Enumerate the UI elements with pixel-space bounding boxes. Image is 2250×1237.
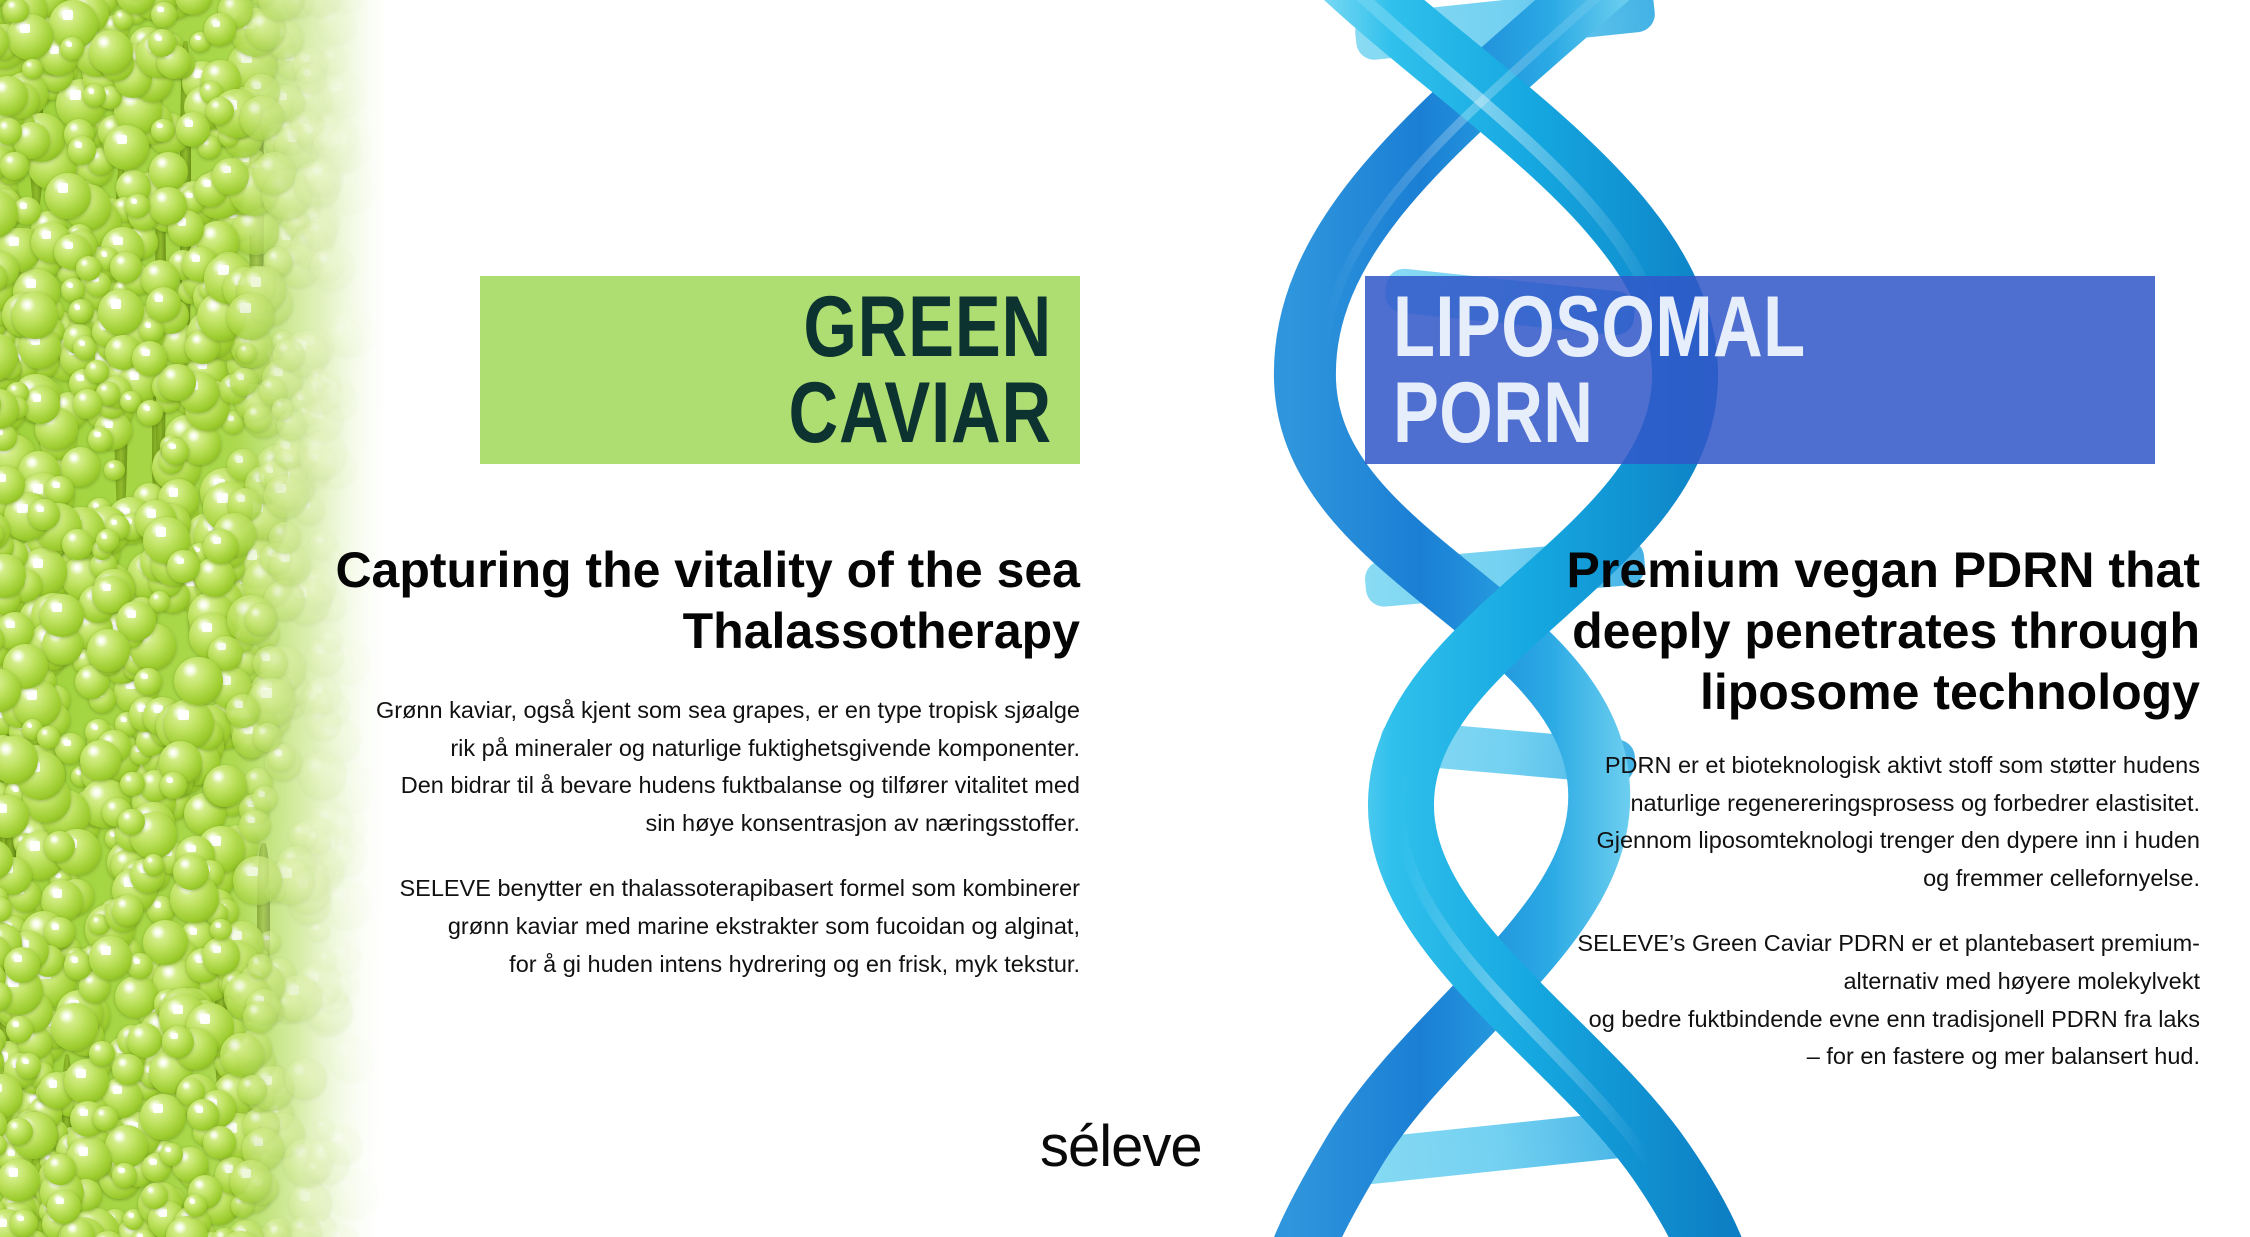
caviar-bead [184,1194,207,1217]
caviar-bead [0,1091,12,1116]
caviar-bead [96,648,123,675]
caviar-bead [0,422,20,460]
caviar-bead [131,716,155,740]
caviar-bead [137,400,163,426]
caviar-bead [22,719,43,740]
caviar-bead [26,344,60,378]
caviar-bead [0,29,34,69]
caviar-bead [188,1175,222,1209]
caviar-bead [36,536,81,581]
caviar-bead [130,858,165,893]
caviar-bead [0,108,36,148]
caviar-stem [215,952,227,1096]
right-p2-line-2: alternativ med høyere molekylvekt [1420,963,2200,1001]
caviar-bead [188,543,211,566]
left-paragraph-2: SELEVE benytter en thalassoterapibasert … [300,870,1080,983]
caviar-bead [0,389,19,429]
caviar-bead [42,625,83,666]
caviar-bead [269,221,313,265]
caviar-bead [89,686,116,713]
caviar-bead [172,1147,207,1182]
caviar-bead [258,931,281,954]
caviar-bead [170,874,219,923]
caviar-bead [231,326,273,368]
caviar-bead [105,828,125,848]
caviar-bead [172,568,194,590]
caviar-bead [0,1075,12,1108]
caviar-bead [65,184,112,231]
caviar-bead [182,725,224,767]
caviar-bead [0,919,26,967]
caviar-bead [106,133,138,165]
caviar-bead [0,484,18,521]
caviar-bead [77,150,114,187]
caviar-bead [185,955,232,1002]
caviar-bead [198,1232,226,1237]
caviar-bead [143,854,164,875]
caviar-bead [110,252,142,284]
caviar-bead [73,789,110,826]
caviar-bead [36,1081,59,1104]
caviar-bead [178,372,219,413]
caviar-bead [9,793,58,842]
caviar-bead [244,768,273,797]
caviar-bead [189,600,237,648]
caviar-bead [104,125,149,170]
caviar-bead [0,270,14,313]
caviar-bead [83,60,120,97]
caviar-bead [192,719,223,750]
caviar-bead [19,473,67,521]
caviar-bead [174,1206,210,1237]
caviar-bead [0,1110,7,1140]
caviar-bead [93,569,134,610]
caviar-bead [98,86,121,109]
caviar-bead [0,512,10,550]
caviar-bead [31,222,72,263]
caviar-bead [154,989,184,1019]
caviar-bead [268,85,305,122]
caviar-bead [73,199,122,248]
caviar-bead [152,443,201,492]
caviar-bead [96,325,132,361]
caviar-bead [220,1033,264,1077]
caviar-bead [89,1041,114,1066]
caviar-bead [0,612,34,650]
right-text-column: Premium vegan PDRN that deeply penetrate… [1420,540,2200,1104]
caviar-bead [129,869,153,893]
caviar-bead [229,943,271,985]
right-p1-line-4: og fremmer cellefornyelse. [1420,860,2200,898]
caviar-bead [2,0,47,32]
caviar-bead [0,381,7,408]
caviar-bead [139,318,164,343]
caviar-bead [96,381,121,406]
caviar-bead [235,384,273,422]
caviar-bead [79,585,117,623]
caviar-bead [106,1036,146,1076]
caviar-bead [0,1223,29,1237]
caviar-bead [272,331,294,353]
left-text-column: Capturing the vitality of the sea Thalas… [300,540,1080,1011]
caviar-bead [66,224,94,252]
caviar-bead [98,289,144,335]
right-heading-line-3: liposome technology [1420,662,2200,723]
caviar-bead [0,258,13,296]
caviar-bead [0,669,16,700]
caviar-bead [98,79,130,111]
caviar-bead [0,392,4,426]
caviar-bead [233,266,275,308]
caviar-bead [92,576,129,613]
caviar-bead [0,755,22,797]
liposomal-banner-label: LIPOSOMAL PORN [1393,284,2127,456]
caviar-bead [156,492,198,534]
caviar-bead [239,810,271,842]
caviar-bead [75,665,110,700]
caviar-bead [20,1018,66,1064]
caviar-bead [7,1207,37,1237]
caviar-bead [213,1113,261,1161]
caviar-bead [0,747,22,781]
caviar-bead [205,902,228,925]
caviar-bead [258,346,281,369]
caviar-bead [0,226,12,267]
caviar-bead [126,226,159,259]
caviar-bead [178,886,207,915]
caviar-bead [87,238,115,266]
caviar-bead [292,389,317,414]
caviar-bead [58,1217,107,1237]
caviar-bead [140,1094,186,1140]
caviar-bead [43,790,77,824]
caviar-bead [56,1133,90,1167]
caviar-bead [129,623,176,670]
caviar-bead [11,1112,58,1159]
caviar-bead [11,1125,32,1146]
caviar-bead [173,854,209,890]
caviar-bead [176,836,215,875]
caviar-bead [0,76,28,116]
caviar-bead [231,1194,255,1218]
caviar-bead [177,1078,205,1106]
caviar-bead [99,613,141,655]
caviar-bead [74,1096,107,1129]
caviar-stem [62,1054,72,1207]
caviar-bead [0,689,35,733]
caviar-bead [0,974,10,1008]
caviar-bead [0,0,11,7]
caviar-bead [20,1046,53,1079]
caviar-bead [243,597,267,621]
green-caviar-banner-label: GREEN CAVIAR [480,284,1052,456]
caviar-bead [149,591,170,612]
caviar-bead [197,292,246,341]
caviar-bead [313,115,359,161]
caviar-bead [0,225,17,266]
caviar-bead [0,1213,18,1237]
left-paragraph-1: Grønn kaviar, også kjent som sea grapes,… [300,692,1080,842]
caviar-bead [0,674,14,699]
caviar-bead [195,557,235,597]
caviar-bead [3,1148,34,1179]
caviar-bead [247,678,296,727]
caviar-bead [96,793,117,814]
caviar-bead [0,153,26,184]
caviar-bead [135,1074,160,1099]
caviar-bead [184,793,226,835]
caviar-bead [0,782,12,810]
caviar-bead [33,478,74,519]
caviar-bead [136,727,166,757]
caviar-bead [9,713,47,751]
caviar-bead [117,72,162,117]
caviar-bead [275,122,321,168]
caviar-bead [166,1216,208,1237]
caviar-bead [177,562,204,589]
caviar-bead [0,670,15,704]
caviar-bead [56,79,106,129]
caviar-bead [185,387,229,431]
caviar-bead [140,734,183,777]
caviar-bead [167,51,195,79]
caviar-bead [13,269,59,315]
caviar-bead [207,116,237,146]
caviar-bead [82,56,118,92]
caviar-bead [0,487,18,535]
caviar-bead [25,718,49,742]
caviar-bead [72,320,96,344]
caviar-bead [64,951,92,979]
caviar-bead [277,47,310,80]
caviar-bead [44,1154,75,1185]
caviar-bead [1,462,42,503]
caviar-bead [132,953,169,990]
caviar-bead [42,1208,75,1237]
caviar-bead [162,438,189,465]
caviar-bead [116,1028,163,1075]
caviar-bead [63,180,99,216]
caviar-bead [112,868,157,913]
caviar-bead [0,405,14,437]
caviar-bead [309,1215,337,1237]
caviar-bead [157,746,207,796]
caviar-bead [3,978,33,1008]
caviar-bead [39,73,66,100]
caviar-bead [39,1199,64,1224]
caviar-bead [68,299,94,325]
caviar-bead [149,198,183,232]
caviar-bead [0,770,9,806]
caviar-bead [310,245,356,291]
caviar-bead [40,423,77,460]
caviar-bead [70,1101,106,1137]
caviar-bead [175,757,202,784]
caviar-bead [225,0,245,3]
caviar-bead [83,84,106,107]
caviar-bead [0,674,7,696]
caviar-bead [262,359,303,400]
caviar-bead [0,95,25,137]
caviar-bead [244,404,272,432]
caviar-stem [30,57,43,208]
caviar-bead [20,687,52,719]
caviar-bead [0,1209,29,1237]
caviar-bead [207,608,228,629]
caviar-bead [243,1107,280,1144]
caviar-bead [97,730,131,764]
caviar-bead [5,661,37,693]
caviar-bead [158,520,205,567]
caviar-bead [327,166,375,214]
caviar-bead [71,1208,119,1237]
caviar-bead [0,1045,4,1078]
caviar-bead [0,264,5,296]
caviar-bead [273,339,305,371]
caviar-bead [14,1231,36,1237]
caviar-bead [25,246,60,281]
caviar-bead [128,199,160,231]
caviar-bead [300,192,321,213]
caviar-bead [153,959,200,1006]
right-heading-line-1: Premium vegan PDRN that [1420,540,2200,601]
caviar-bead [210,96,241,127]
caviar-bead [258,998,284,1024]
caviar-bead [131,102,173,144]
caviar-bead [57,507,104,554]
caviar-bead [319,112,340,133]
caviar-bead [87,629,130,672]
caviar-bead [6,382,28,404]
caviar-bead [214,780,250,816]
caviar-bead [16,273,37,294]
caviar-bead [274,446,313,485]
caviar-bead [307,1142,350,1185]
caviar-bead [253,723,282,752]
left-p1-line-1: Grønn kaviar, også kjent som sea grapes,… [300,692,1080,730]
caviar-bead [68,578,107,617]
caviar-bead [236,1177,272,1213]
caviar-bead [103,1134,134,1165]
caviar-bead [120,327,150,357]
caviar-bead [0,434,37,484]
caviar-bead [0,594,22,633]
caviar-bead [0,573,47,622]
caviar-bead [31,593,77,639]
caviar-bead [60,37,83,60]
caviar-bead [0,857,32,895]
caviar-bead [232,147,268,183]
caviar-bead [0,408,4,441]
caviar-bead [74,302,112,340]
caviar-bead [250,1060,285,1095]
caviar-bead [85,384,134,433]
caviar-bead [178,279,203,304]
caviar-bead [70,316,91,337]
caviar-bead [64,230,97,263]
caviar-bead [326,308,376,358]
caviar-bead [34,541,57,564]
caviar-bead [31,380,63,412]
caviar-bead [2,1065,28,1091]
caviar-bead [32,945,64,977]
caviar-bead [55,733,86,764]
caviar-bead [13,197,41,225]
caviar-bead [242,1128,284,1170]
caviar-bead [194,511,241,558]
caviar-bead [0,522,4,546]
caviar-bead [154,0,195,19]
caviar-bead [0,38,28,83]
caviar-bead [0,0,19,5]
caviar-bead [0,634,8,670]
caviar-bead [2,893,36,927]
caviar-bead [0,1216,5,1237]
caviar-bead [52,802,100,850]
caviar-bead [302,400,344,442]
caviar-bead [62,529,93,560]
caviar-bead [219,374,249,404]
caviar-bead [299,431,347,479]
caviar-bead [89,232,135,278]
caviar-bead [306,161,339,194]
caviar-bead [0,159,12,179]
caviar-bead [272,398,293,419]
caviar-bead [189,240,217,268]
caviar-bead [57,871,79,893]
caviar-bead [238,491,287,540]
caviar-bead [13,122,50,159]
caviar-bead [8,880,41,913]
caviar-bead [221,560,244,583]
caviar-bead [161,1188,184,1211]
caviar-bead [44,831,75,862]
caviar-bead [132,60,173,101]
caviar-bead [204,13,236,45]
caviar-bead [148,1201,186,1237]
caviar-bead [324,83,352,111]
caviar-bead [67,1018,105,1056]
caviar-bead [69,369,99,399]
caviar-bead [0,345,13,381]
caviar-bead [278,245,321,288]
caviar-bead [316,448,357,489]
caviar-bead [113,9,134,30]
caviar-bead [167,550,200,583]
caviar-bead [16,751,65,800]
caviar-bead [208,252,250,294]
caviar-bead [0,211,3,236]
caviar-bead [29,81,53,105]
caviar-bead [0,773,9,811]
caviar-stem [22,691,30,1025]
caviar-bead [10,768,38,796]
caviar-bead [159,988,208,1037]
caviar-bead [247,1085,275,1113]
caviar-bead [228,1220,265,1237]
caviar-bead [253,152,296,195]
caviar-bead [0,293,14,325]
caviar-bead [39,1072,76,1109]
caviar-bead [0,145,12,179]
caviar-bead [217,772,245,800]
caviar-bead [215,1157,251,1193]
caviar-bead [193,279,230,316]
caviar-bead [0,384,18,416]
caviar-bead [213,571,234,592]
caviar-bead [0,751,39,790]
caviar-bead [0,1200,7,1224]
